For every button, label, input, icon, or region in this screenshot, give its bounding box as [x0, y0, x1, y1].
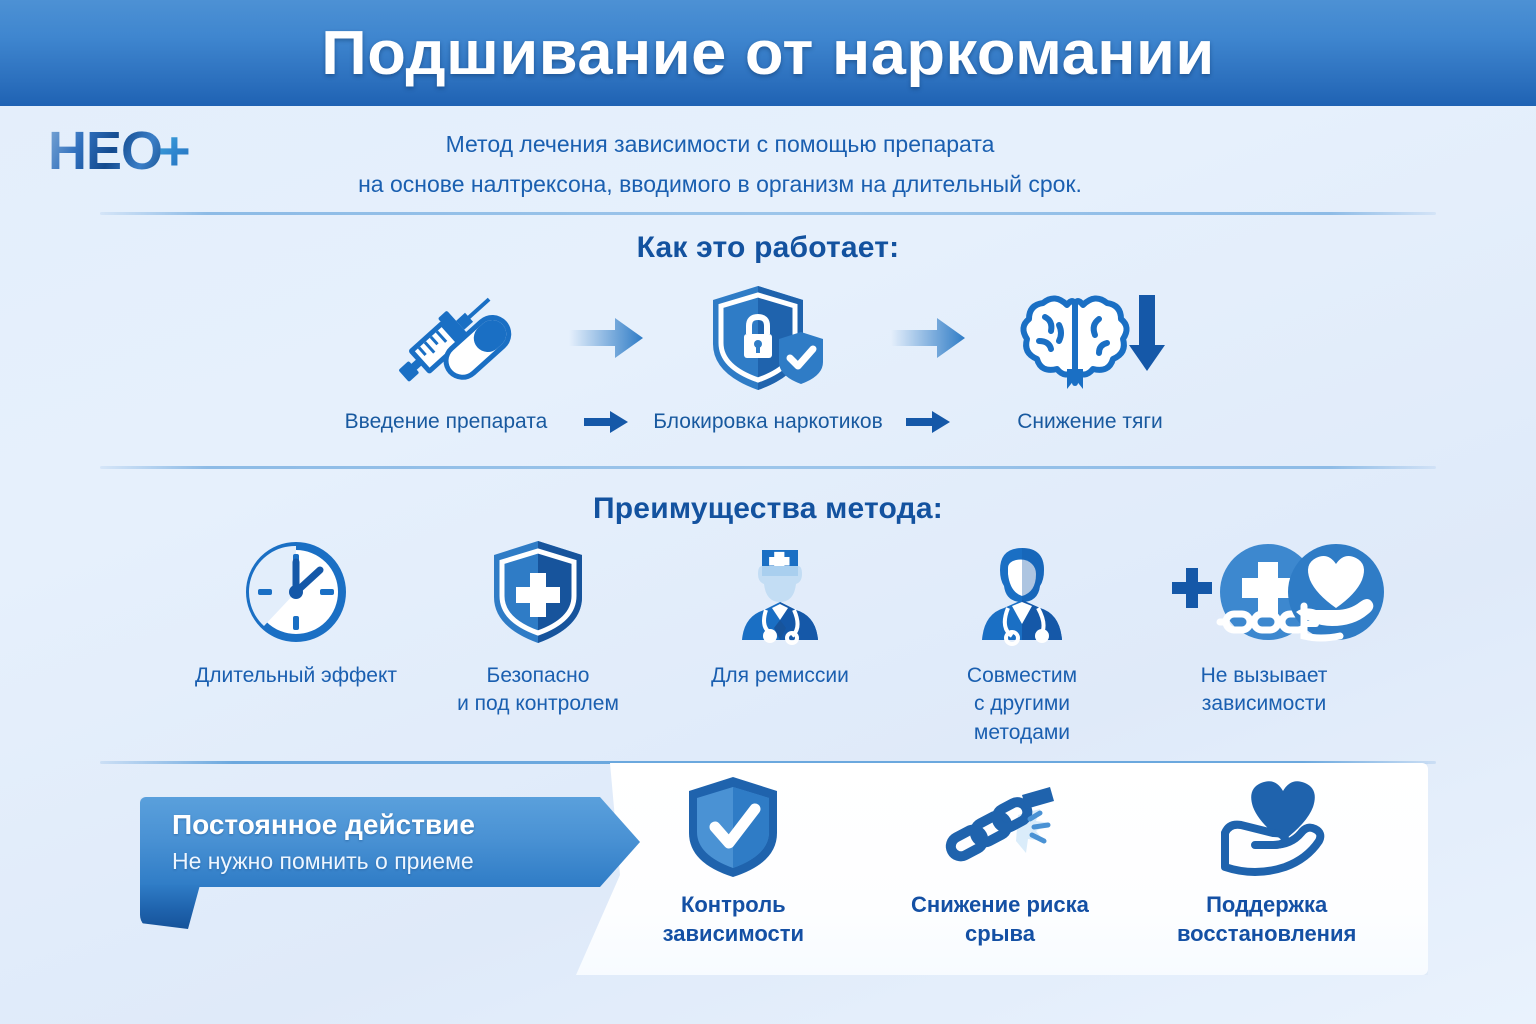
- how-it-works-labels-row: Введение препарата Блокировка наркотиков…: [0, 410, 1536, 434]
- how-it-works-icons-row: [0, 282, 1536, 394]
- bottom-label-3-line-1: Поддержка: [1177, 891, 1356, 920]
- benefit-item-1: Длительный эффект: [190, 540, 402, 690]
- ribbon-title: Постоянное действие: [172, 808, 612, 842]
- benefit-label-5-line-1: Не вызывает: [1201, 662, 1328, 690]
- flow-step-2: [653, 282, 883, 394]
- benefit-label-3: Для ремиссии: [711, 662, 849, 690]
- benefit-label-1: Длительный эффект: [195, 662, 397, 690]
- benefit-label-4: Совместим с другими методами: [967, 662, 1077, 747]
- bottom-label-3: Поддержка восстановления: [1177, 891, 1356, 948]
- brand-logo: НЕО +: [48, 120, 248, 182]
- bottom-item-1: Контроль зависимости: [608, 775, 858, 948]
- ribbon-fold-tail: [140, 885, 200, 929]
- flow-step-1: [331, 282, 561, 394]
- intro-line-1: Метод лечения зависимости с помощью преп…: [300, 124, 1140, 164]
- benefits-row: Длительный эффект Безопасно и под контро…: [190, 540, 1370, 747]
- how-it-works-heading: Как это работает:: [0, 231, 1536, 265]
- flow-label-2: Блокировка наркотиков: [653, 410, 883, 434]
- ribbon-subtitle: Не нужно помнить о приеме: [172, 848, 612, 876]
- page-title: Подшивание от наркомании: [321, 18, 1215, 89]
- intro-description: Метод лечения зависимости с помощью преп…: [300, 124, 1140, 205]
- shield-cross-icon: [490, 540, 586, 644]
- flow-label-3: Снижение тяги: [975, 410, 1205, 434]
- divider-1: [100, 212, 1436, 215]
- benefit-label-2: Безопасно и под контролем: [457, 662, 619, 719]
- flow-arrow-2: [883, 282, 975, 394]
- shield-check-icon: [683, 775, 783, 879]
- flow-label-1: Введение препарата: [331, 410, 561, 434]
- shield-lock-icon: [703, 282, 833, 394]
- infographic-poster: Подшивание от наркомании НЕО + Метод леч…: [0, 0, 1536, 1024]
- benefit-label-2-line-1: Безопасно: [457, 662, 619, 690]
- hand-heart-icon: [1207, 775, 1327, 879]
- logo-text: НЕО: [48, 124, 162, 178]
- flow-arrow-1: [561, 282, 653, 394]
- bottom-items-row: Контроль зависимости: [600, 775, 1400, 975]
- bottom-item-3: Поддержка восстановления: [1142, 775, 1392, 948]
- benefit-label-5: Не вызывает зависимости: [1201, 662, 1328, 719]
- broken-chain-heart-icon: [1164, 540, 1364, 644]
- flow-label-arrow-1: [561, 410, 653, 434]
- benefit-label-4-line-2: с другими: [967, 690, 1077, 718]
- benefit-label-2-line-2: и под контролем: [457, 690, 619, 718]
- benefit-label-4-line-3: методами: [967, 719, 1077, 747]
- ribbon-text-block: Постоянное действие Не нужно помнить о п…: [172, 808, 612, 875]
- benefit-item-5: Не вызывает зависимости: [1158, 540, 1370, 719]
- benefit-item-2: Безопасно и под контролем: [432, 540, 644, 719]
- bottom-label-3-line-2: восстановления: [1177, 920, 1356, 949]
- brain-down-arrow-icon: [1015, 282, 1165, 394]
- doctor-icon: [728, 540, 832, 644]
- bottom-item-2: Снижение риска срыва: [875, 775, 1125, 948]
- logo-plus-icon: +: [158, 123, 191, 179]
- header-bar: Подшивание от наркомании: [0, 0, 1536, 106]
- bottom-label-1: Контроль зависимости: [608, 891, 858, 948]
- bottom-label-2: Снижение риска срыва: [875, 891, 1125, 948]
- benefits-heading: Преимущества метода:: [0, 492, 1536, 526]
- clock-icon: [244, 540, 348, 644]
- benefit-label-5-line-2: зависимости: [1201, 690, 1328, 718]
- flow-label-arrow-2: [883, 410, 975, 434]
- medic-person-icon: [970, 540, 1074, 644]
- syringe-pill-icon: [381, 282, 511, 394]
- benefit-item-4: Совместим с другими методами: [916, 540, 1128, 747]
- flow-step-3: [975, 282, 1205, 394]
- intro-line-2: на основе налтрексона, вводимого в орган…: [300, 164, 1140, 204]
- divider-2: [100, 466, 1436, 469]
- benefit-label-4-line-1: Совместим: [967, 662, 1077, 690]
- benefit-item-3: Для ремиссии: [674, 540, 886, 690]
- broken-chain-icon: [940, 775, 1060, 879]
